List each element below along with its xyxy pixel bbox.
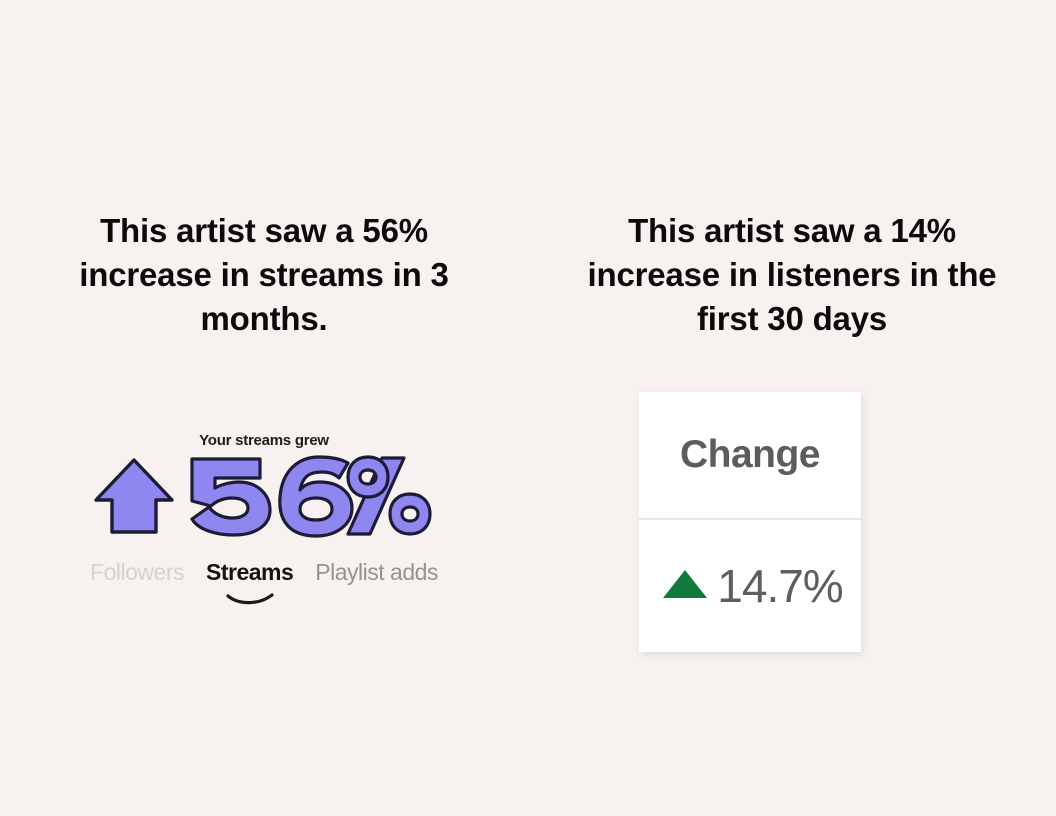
streams-percent-figure [182, 453, 437, 544]
change-card-value: 14.7% [717, 559, 842, 613]
tab-playlist-adds[interactable]: Playlist adds [315, 559, 438, 586]
left-headline: This artist saw a 56% increase in stream… [0, 209, 528, 341]
change-card-body: 14.7% [639, 520, 861, 652]
tab-streams[interactable]: Streams [206, 559, 293, 586]
triangle-up-icon [661, 567, 709, 606]
metric-tabs: Followers Streams Playlist adds [0, 559, 528, 586]
right-headline: This artist saw a 14% increase in listen… [528, 209, 1056, 341]
streams-widget-caption: Your streams grew [0, 432, 528, 449]
streams-growth-widget: Your streams grew [0, 432, 528, 586]
tab-streams-label: Streams [206, 559, 293, 585]
change-card-header: Change [639, 392, 861, 520]
tab-followers[interactable]: Followers [90, 559, 184, 586]
change-card-header-label: Change [680, 433, 820, 477]
change-card: Change 14.7% [639, 392, 861, 652]
left-panel: This artist saw a 56% increase in stream… [0, 0, 528, 816]
arrow-up-icon [92, 454, 176, 543]
comparison-stage: This artist saw a 56% increase in stream… [0, 0, 1056, 816]
streams-value-row [0, 455, 528, 541]
tab-active-underline-icon [225, 586, 275, 613]
right-panel: This artist saw a 14% increase in listen… [528, 0, 1056, 816]
